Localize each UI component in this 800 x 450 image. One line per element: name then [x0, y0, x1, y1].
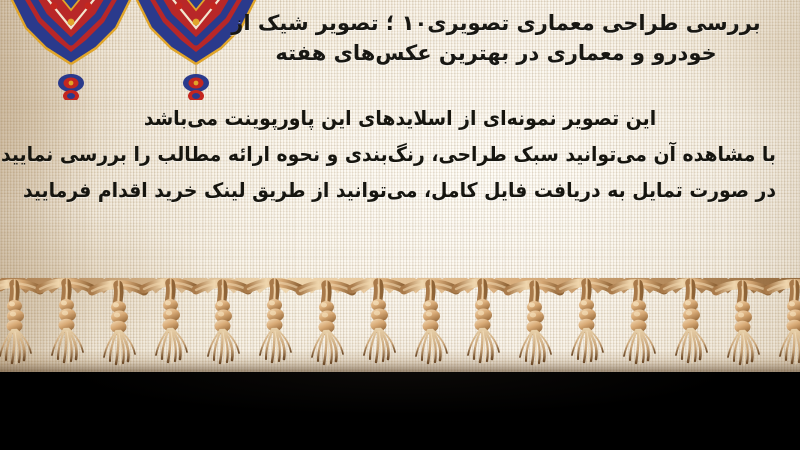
title-line-2: خودرو و معماری در بهترین عکس‌های هفته [206, 38, 786, 68]
presentation-slide: بررسی طراحی معماری تصویری۱۰ ؛ تصویر شیک … [0, 0, 800, 450]
body-line-2: با مشاهده آن می‌توانید سبک طراحی، رنگ‌بن… [24, 144, 776, 164]
title-line-1: بررسی طراحی معماری تصویری۱۰ ؛ تصویر شیک … [206, 8, 786, 38]
body-line-1: این تصویر نمونه‌ای از اسلایدهای این پاور… [24, 108, 776, 128]
slide-title: بررسی طراحی معماری تصویری۱۰ ؛ تصویر شیک … [206, 8, 786, 69]
bottom-black-band [0, 372, 800, 450]
slide-body: این تصویر نمونه‌ای از اسلایدهای این پاور… [0, 108, 800, 200]
body-line-3: در صورت تمایل به دریافت فایل کامل، می‌تو… [24, 180, 776, 200]
